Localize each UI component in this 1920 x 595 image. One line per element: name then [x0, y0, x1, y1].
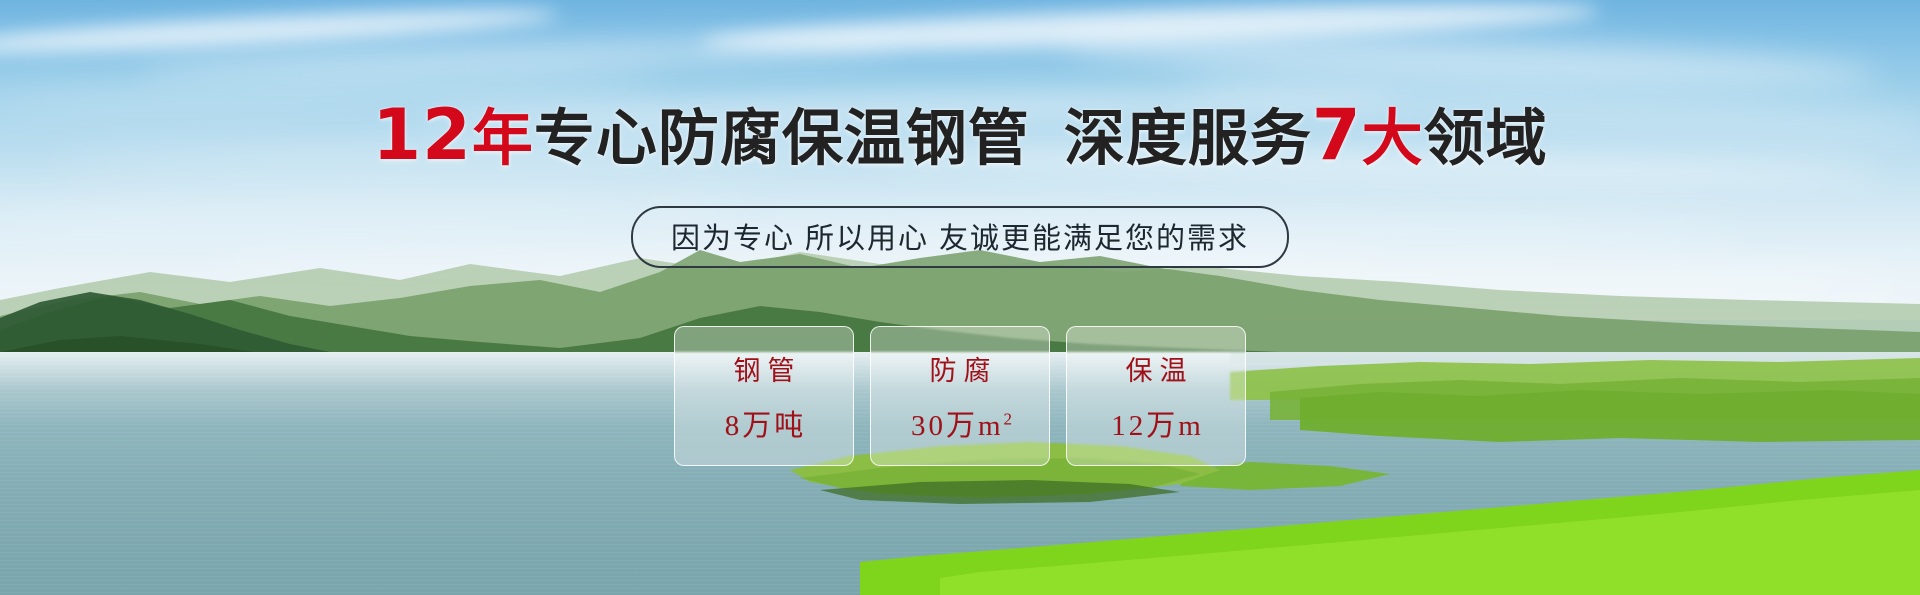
stat-card-title: 钢管: [727, 349, 802, 388]
stat-card-value: 8万吨: [722, 402, 807, 444]
subtitle-pill: 因为专心 所以用心 友诚更能满足您的需求: [631, 206, 1289, 268]
headline-years-number: 12: [372, 94, 471, 176]
stat-card-anticorrosion[interactable]: 防腐 30万m2: [870, 326, 1050, 466]
stat-card-list: 钢管 8万吨 防腐 30万m2 保温 12万m: [0, 326, 1920, 466]
headline-service-text: 深度服务: [1064, 104, 1312, 172]
stat-card-insulation[interactable]: 保温 12万m: [1066, 326, 1246, 466]
stat-card-value: 12万m: [1108, 402, 1204, 444]
promo-banner: 12年专心防腐保温钢管深度服务7大领域 因为专心 所以用心 友诚更能满足您的需求…: [0, 0, 1920, 595]
headline-years-unit: 年: [472, 104, 534, 172]
headline-fields-text: 领域: [1424, 104, 1548, 172]
stat-card-steel-pipe[interactable]: 钢管 8万吨: [674, 326, 854, 466]
stat-card-title: 保温: [1119, 349, 1194, 388]
headline-fields-unit: 大: [1362, 104, 1424, 172]
stat-card-title: 防腐: [923, 349, 998, 388]
subtitle-container: 因为专心 所以用心 友诚更能满足您的需求: [0, 206, 1920, 268]
stat-card-value-text: 30万m: [911, 410, 1004, 442]
headline-fields-number: 7: [1312, 94, 1362, 176]
page-title: 12年专心防腐保温钢管深度服务7大领域: [0, 88, 1920, 177]
stat-card-value: 30万m2: [908, 402, 1012, 444]
headline-main-text: 专心防腐保温钢管: [534, 104, 1030, 172]
stat-card-value-text: 12万m: [1111, 410, 1204, 442]
stat-card-value-exponent: 2: [1004, 409, 1013, 428]
stat-card-value-text: 8万吨: [725, 410, 807, 442]
